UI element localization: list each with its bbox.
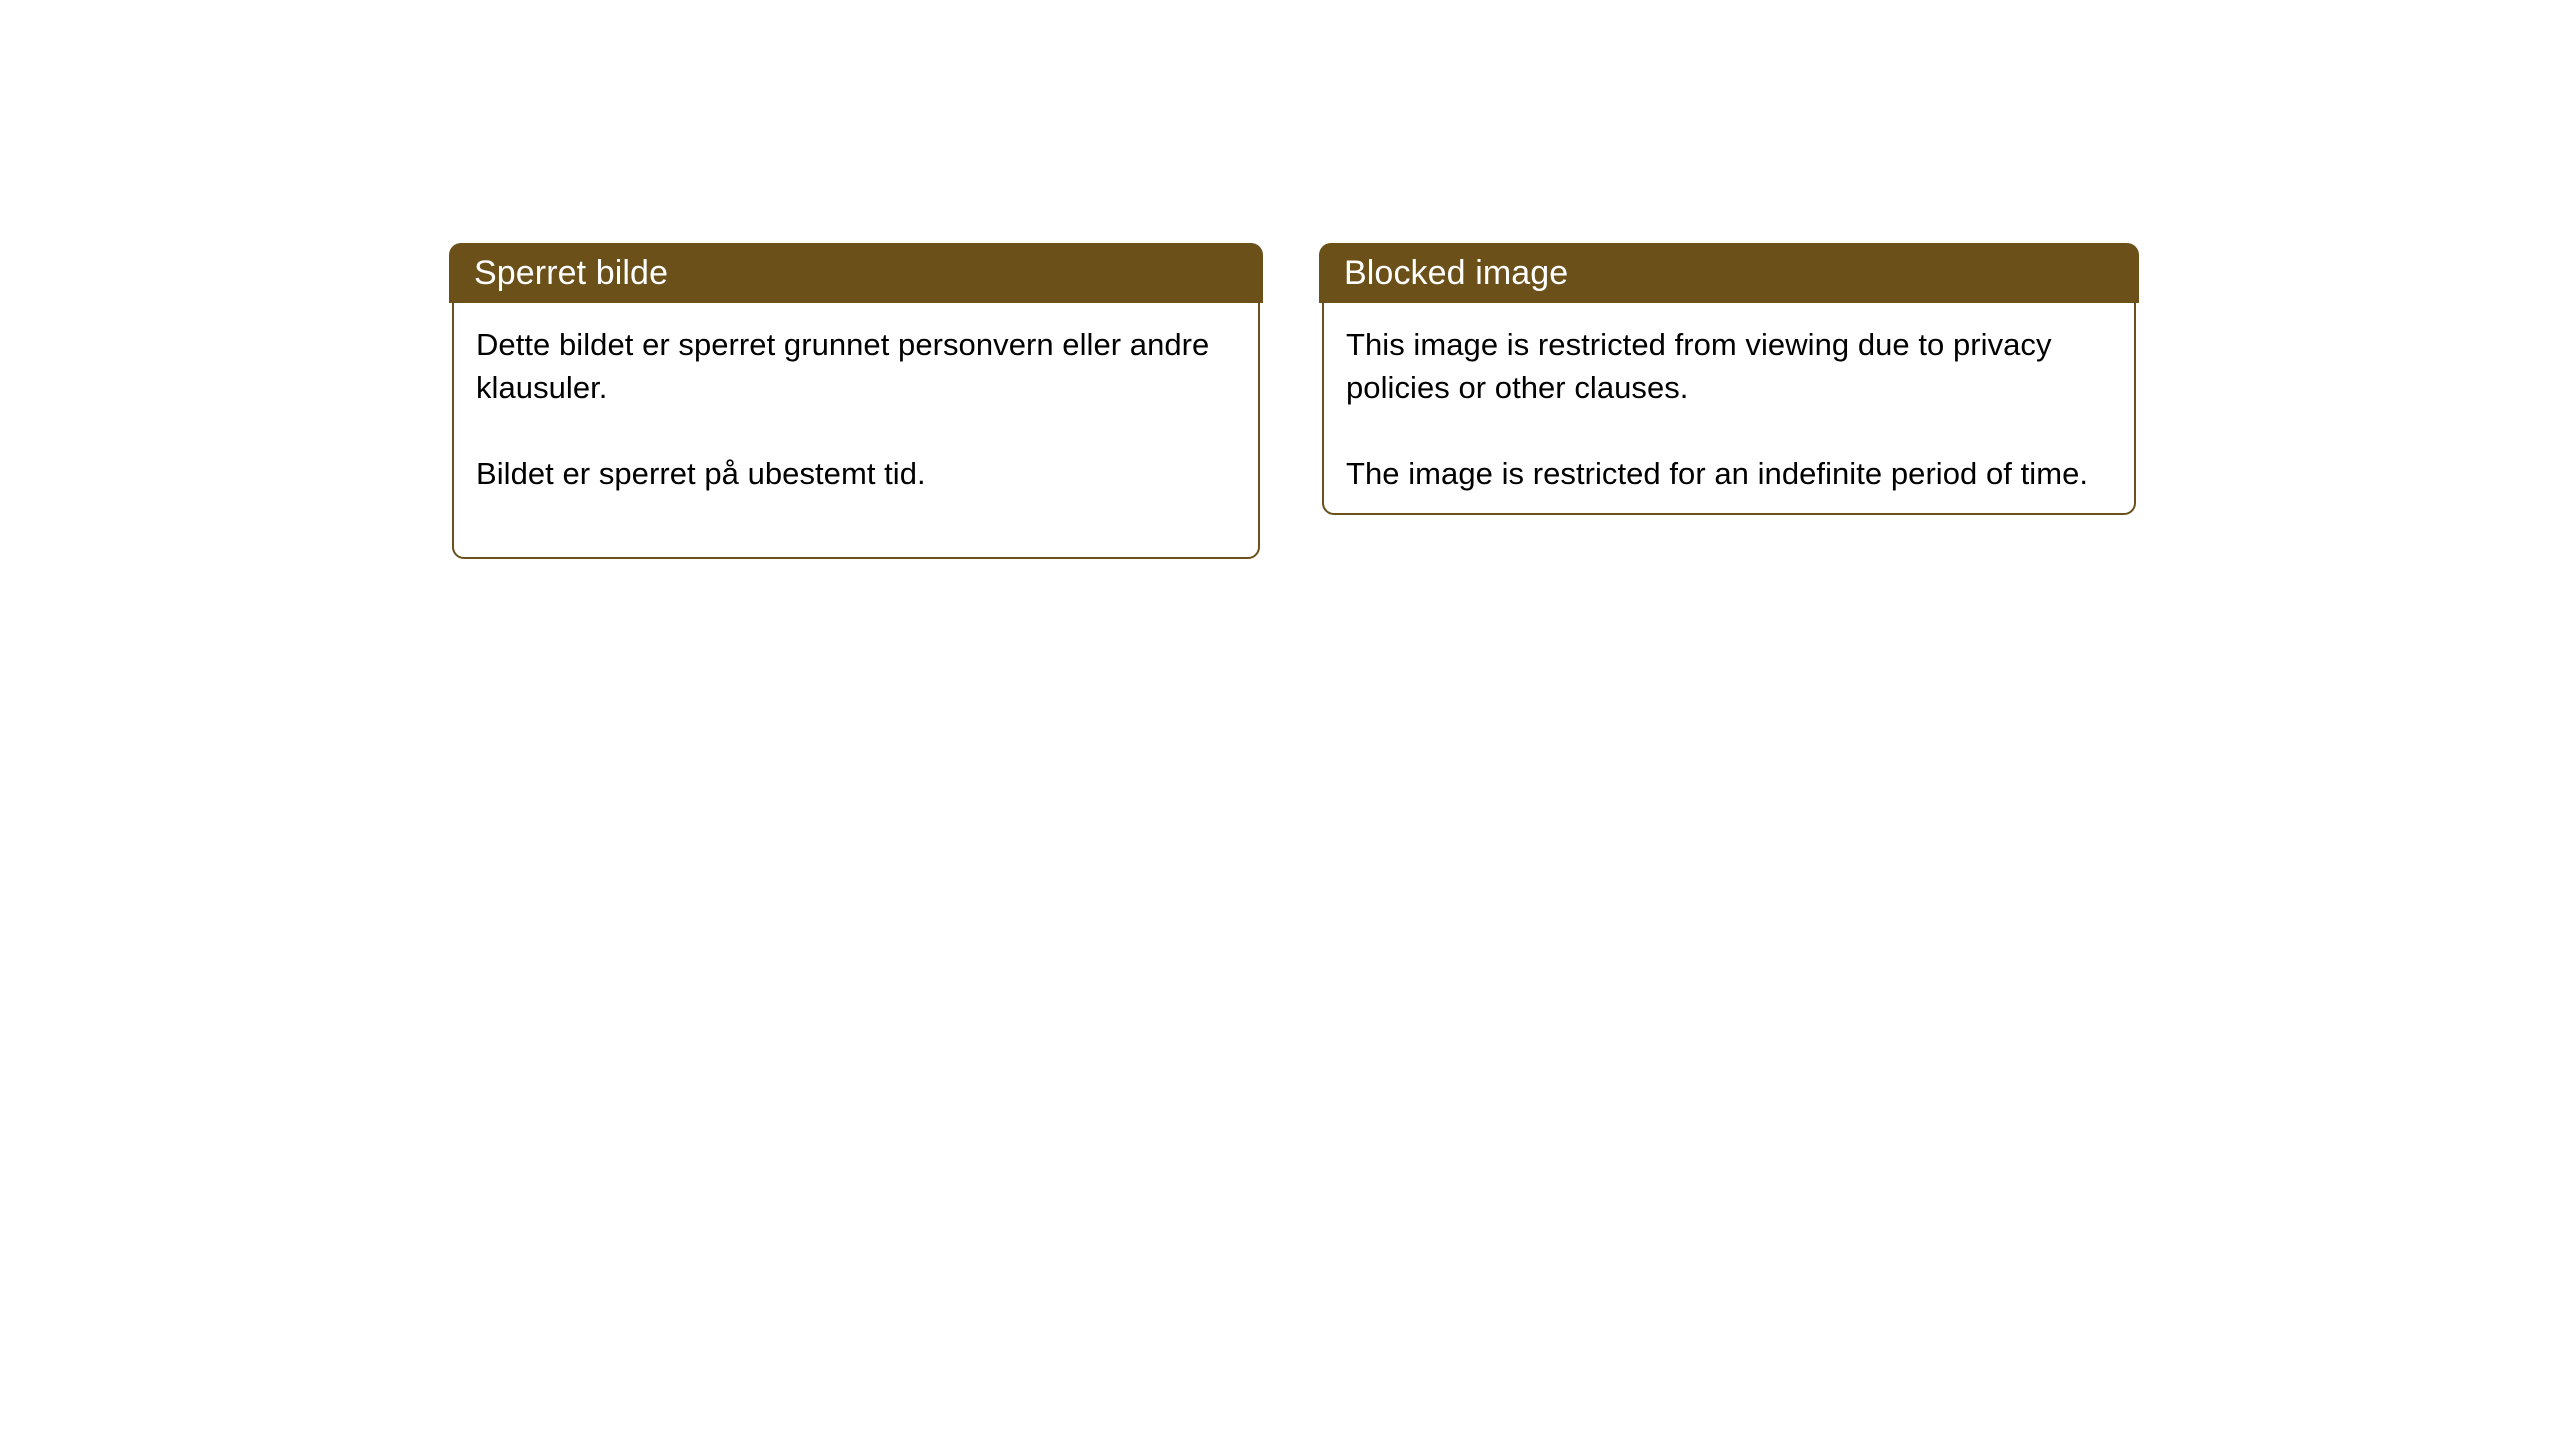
notice-paragraph-duration-norwegian: Bildet er sperret på ubestemt tid. [476,452,1236,495]
notice-body-english: This image is restricted from viewing du… [1322,303,2136,515]
notice-title-english: Blocked image [1344,253,1568,293]
blocked-image-notice-row: Sperret bilde Dette bildet er sperret gr… [452,243,2136,559]
notice-header-bar-english: Blocked image [1319,243,2139,303]
blocked-image-notice-english: Blocked image This image is restricted f… [1322,243,2136,515]
page-canvas: Sperret bilde Dette bildet er sperret gr… [0,0,2560,1440]
notice-body-norwegian: Dette bildet er sperret grunnet personve… [452,303,1260,559]
blocked-image-notice-norwegian: Sperret bilde Dette bildet er sperret gr… [452,243,1260,559]
notice-paragraph-reason-norwegian: Dette bildet er sperret grunnet personve… [476,323,1236,409]
notice-paragraph-duration-english: The image is restricted for an indefinit… [1346,452,2112,495]
notice-header-bar-norwegian: Sperret bilde [449,243,1263,303]
notice-title-norwegian: Sperret bilde [474,253,668,293]
notice-paragraph-reason-english: This image is restricted from viewing du… [1346,323,2112,409]
